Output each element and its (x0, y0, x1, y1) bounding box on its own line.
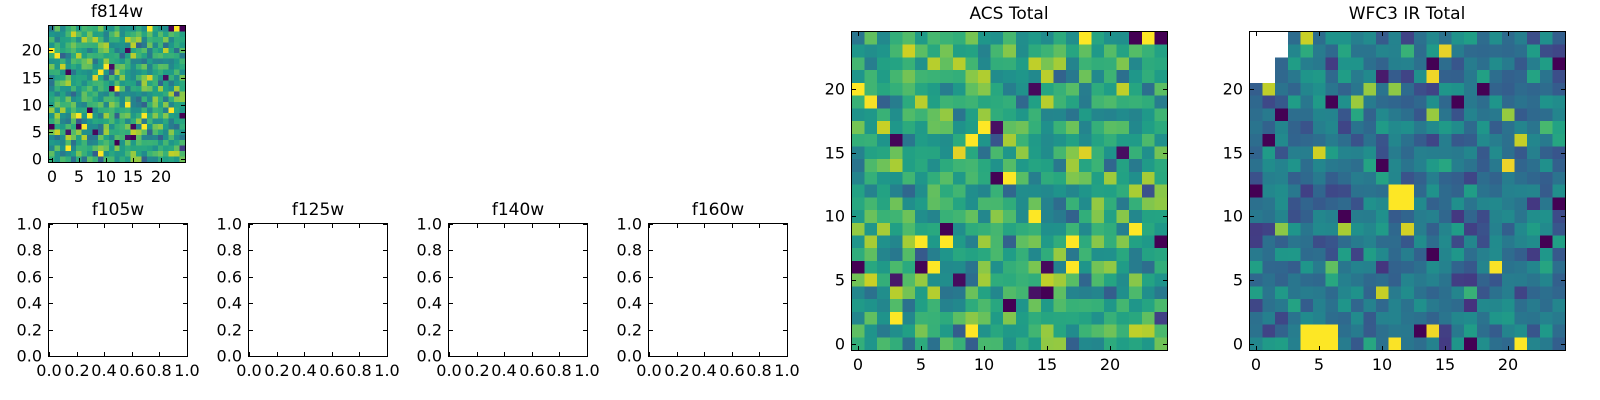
acs-total-panel-xticklabel-3: 15 (1037, 355, 1057, 374)
f814w-panel-xtick-3 (133, 158, 134, 162)
wfc3-ir-total-panel-yticklabel-1: 5 (1163, 271, 1243, 290)
acs-total-panel-ytick-0 (852, 344, 856, 345)
f814w-panel-xticklabel-4: 20 (151, 167, 171, 186)
f140w-panel-ytick-3 (449, 277, 453, 278)
f160w-panel-ytick-5 (649, 224, 653, 225)
acs-total-panel-xtick-top-0 (858, 32, 859, 36)
wfc3-ir-total-panel-yticklabel-0: 0 (1163, 335, 1243, 354)
wfc3-ir-total-panel-yticklabel-3: 15 (1163, 144, 1243, 163)
f140w-panel-xtick-3 (532, 352, 533, 356)
f160w-panel-ytick-right-0 (783, 356, 787, 357)
f160w-panel-ytick-right-1 (783, 330, 787, 331)
f814w-panel-ytick-right-3 (181, 78, 185, 79)
f125w-panel-ytick-4 (249, 250, 253, 251)
f125w-panel-xtick-top-2 (304, 224, 305, 228)
f160w-panel-xtick-top-4 (759, 224, 760, 228)
f160w-panel-yticklabel-5: 1.0 (562, 215, 642, 234)
f105w-panel-xticklabel-3: 0.6 (119, 361, 144, 380)
matplotlib-figure: f814w0510152005101520f105w0.00.20.40.60.… (0, 0, 1600, 400)
f140w-panel-xtick-1 (477, 352, 478, 356)
f814w-panel-xticklabel-3: 15 (123, 167, 143, 186)
f160w-panel-xtick-3 (732, 352, 733, 356)
f140w-panel-yticklabel-4: 0.8 (362, 241, 442, 260)
f814w-panel-xtick-top-2 (106, 26, 107, 30)
f160w-panel-xticklabel-3: 0.6 (719, 361, 744, 380)
f160w-panel-ytick-2 (649, 303, 653, 304)
acs-total-panel-plot-area (851, 31, 1168, 351)
acs-total-panel-xtick-top-4 (1110, 32, 1111, 36)
f140w-panel-yticklabel-2: 0.4 (362, 294, 442, 313)
f814w-panel-title: f814w (0, 2, 267, 22)
f105w-panel-xtick-4 (159, 352, 160, 356)
acs-total-panel-yticklabel-0: 0 (765, 335, 845, 354)
acs-total-panel-ytick-1 (852, 280, 856, 281)
acs-total-panel-xtick-3 (1047, 346, 1048, 350)
f125w-panel-yticklabel-2: 0.4 (162, 294, 242, 313)
f814w-panel-ytick-2 (49, 105, 53, 106)
f814w-panel-xticklabel-1: 5 (74, 167, 84, 186)
f140w-panel-xtick-top-4 (559, 224, 560, 228)
f140w-panel-yticklabel-1: 0.2 (362, 321, 442, 340)
wfc3-ir-total-panel-xtick-0 (1256, 346, 1257, 350)
f160w-panel-yticklabel-2: 0.4 (562, 294, 642, 313)
acs-total-panel-ytick-2 (852, 216, 856, 217)
f105w-panel-yticklabel-3: 0.6 (0, 268, 42, 287)
f140w-panel-yticklabel-5: 1.0 (362, 215, 442, 234)
f125w-panel-yticklabel-5: 1.0 (162, 215, 242, 234)
wfc3-ir-total-panel-plot-area (1249, 31, 1566, 351)
f105w-panel-ytick-3 (49, 277, 53, 278)
wfc3-ir-total-panel-xtick-top-0 (1256, 32, 1257, 36)
f814w-panel-xtick-4 (161, 158, 162, 162)
wfc3-ir-total-panel-ytick-right-2 (1561, 216, 1565, 217)
f814w-panel-xtick-top-3 (133, 26, 134, 30)
f814w-panel-ytick-right-2 (181, 105, 185, 106)
f105w-panel-xtick-top-2 (104, 224, 105, 228)
f814w-panel-ytick-4 (49, 50, 53, 51)
acs-total-panel-yticklabel-3: 15 (765, 144, 845, 163)
f160w-panel-xtick-top-1 (677, 224, 678, 228)
f125w-panel-xtick-1 (277, 352, 278, 356)
f140w-panel-xtick-top-2 (504, 224, 505, 228)
f160w-panel-ytick-4 (649, 250, 653, 251)
acs-total-panel-xticklabel-0: 0 (853, 355, 863, 374)
f160w-panel-xtick-2 (704, 352, 705, 356)
f814w-panel-ytick-1 (49, 132, 53, 133)
f814w-panel-ytick-right-0 (181, 159, 185, 160)
f105w-panel-xtick-2 (104, 352, 105, 356)
wfc3-ir-total-panel-yticklabel-4: 20 (1163, 80, 1243, 99)
f105w-panel-yticklabel-2: 0.4 (0, 294, 42, 313)
wfc3-ir-total-panel-yticklabel-2: 10 (1163, 207, 1243, 226)
f105w-panel-xtick-3 (132, 352, 133, 356)
wfc3-ir-total-panel-xticklabel-4: 20 (1498, 355, 1518, 374)
f140w-panel-yticklabel-3: 0.6 (362, 268, 442, 287)
wfc3-ir-total-panel-ytick-0 (1250, 344, 1254, 345)
f814w-panel-plot-area (48, 25, 186, 163)
f140w-panel-xtick-4 (559, 352, 560, 356)
wfc3-ir-total-panel-xticklabel-2: 10 (1372, 355, 1392, 374)
f814w-panel-xticklabel-0: 0 (47, 167, 57, 186)
f814w-panel-ytick-right-1 (181, 132, 185, 133)
f125w-panel-ytick-1 (249, 330, 253, 331)
f105w-panel-ytick-1 (49, 330, 53, 331)
f140w-panel-yticklabel-0: 0.0 (362, 347, 442, 366)
f125w-panel-yticklabel-4: 0.8 (162, 241, 242, 260)
f814w-panel-xtick-top-0 (52, 26, 53, 30)
wfc3-ir-total-panel-title: WFC3 IR Total (1257, 4, 1557, 24)
f160w-panel-xticklabel-1: 0.2 (664, 361, 689, 380)
wfc3-ir-total-panel-ytick-right-0 (1561, 344, 1565, 345)
acs-total-panel-xtick-2 (984, 346, 985, 350)
f125w-panel-ytick-3 (249, 277, 253, 278)
f814w-panel-yticklabel-4: 20 (0, 41, 42, 60)
f160w-panel-xtick-top-3 (732, 224, 733, 228)
f125w-panel-xticklabel-1: 0.2 (264, 361, 289, 380)
wfc3-ir-total-panel-xtick-top-2 (1382, 32, 1383, 36)
acs-total-panel-xtick-top-2 (984, 32, 985, 36)
f814w-panel-xtick-2 (106, 158, 107, 162)
f125w-panel-xtick-top-1 (277, 224, 278, 228)
f105w-panel-xtick-top-4 (159, 224, 160, 228)
wfc3-ir-total-panel-xtick-3 (1445, 346, 1446, 350)
acs-total-panel-yticklabel-4: 20 (765, 80, 845, 99)
f105w-panel-ytick-2 (49, 303, 53, 304)
acs-total-panel-heatmap-image (852, 32, 1167, 350)
f160w-panel-xtick-top-2 (704, 224, 705, 228)
acs-total-panel-xtick-0 (858, 346, 859, 350)
f125w-panel-yticklabel-1: 0.2 (162, 321, 242, 340)
f105w-panel-xtick-top-3 (132, 224, 133, 228)
wfc3-ir-total-panel-ytick-3 (1250, 153, 1254, 154)
f105w-panel-xticklabel-2: 0.4 (91, 361, 116, 380)
f125w-panel-xtick-3 (332, 352, 333, 356)
acs-total-panel-ytick-3 (852, 153, 856, 154)
f105w-panel-ytick-5 (49, 224, 53, 225)
wfc3-ir-total-panel-heatmap-image (1250, 32, 1565, 350)
acs-total-panel-xticklabel-4: 20 (1100, 355, 1120, 374)
acs-total-panel-yticklabel-2: 10 (765, 207, 845, 226)
f105w-panel-ytick-4 (49, 250, 53, 251)
f160w-panel-yticklabel-0: 0.0 (562, 347, 642, 366)
f814w-panel-ytick-3 (49, 78, 53, 79)
acs-total-panel-xtick-4 (1110, 346, 1111, 350)
f814w-panel-xtick-top-4 (161, 26, 162, 30)
wfc3-ir-total-panel-ytick-right-3 (1561, 153, 1565, 154)
f160w-panel-ytick-right-2 (783, 303, 787, 304)
f160w-panel-ytick-3 (649, 277, 653, 278)
wfc3-ir-total-panel-xtick-4 (1508, 346, 1509, 350)
f140w-panel-xticklabel-1: 0.2 (464, 361, 489, 380)
f140w-panel-xtick-2 (504, 352, 505, 356)
wfc3-ir-total-panel-xtick-1 (1319, 346, 1320, 350)
f125w-panel-yticklabel-0: 0.0 (162, 347, 242, 366)
f160w-panel-xticklabel-4: 0.8 (746, 361, 771, 380)
acs-total-panel-xticklabel-1: 5 (916, 355, 926, 374)
f105w-panel-xticklabel-1: 0.2 (64, 361, 89, 380)
wfc3-ir-total-panel-xtick-top-4 (1508, 32, 1509, 36)
f125w-panel-ytick-0 (249, 356, 253, 357)
f160w-panel-yticklabel-3: 0.6 (562, 268, 642, 287)
wfc3-ir-total-panel-xtick-2 (1382, 346, 1383, 350)
f160w-panel-ytick-right-4 (783, 250, 787, 251)
acs-total-panel-title: ACS Total (859, 4, 1159, 24)
f105w-panel-xtick-top-1 (77, 224, 78, 228)
f814w-panel-ytick-0 (49, 159, 53, 160)
f160w-panel-xtick-4 (759, 352, 760, 356)
f105w-panel-ytick-0 (49, 356, 53, 357)
f814w-panel-ytick-right-4 (181, 50, 185, 51)
f160w-panel-xticklabel-2: 0.4 (691, 361, 716, 380)
f125w-panel-xtick-top-4 (359, 224, 360, 228)
acs-total-panel-yticklabel-1: 5 (765, 271, 845, 290)
f814w-panel-xtick-1 (79, 158, 80, 162)
f160w-panel-yticklabel-1: 0.2 (562, 321, 642, 340)
wfc3-ir-total-panel-xticklabel-0: 0 (1251, 355, 1261, 374)
f814w-panel-yticklabel-0: 0 (0, 150, 42, 169)
f160w-panel-xtick-1 (677, 352, 678, 356)
f125w-panel-xtick-top-3 (332, 224, 333, 228)
f105w-panel-yticklabel-5: 1.0 (0, 215, 42, 234)
f814w-panel-yticklabel-2: 10 (0, 96, 42, 115)
f160w-panel-xticklabel-5: 1.0 (774, 361, 799, 380)
wfc3-ir-total-panel-ytick-right-4 (1561, 89, 1565, 90)
f140w-panel-xtick-top-1 (477, 224, 478, 228)
wfc3-ir-total-panel-ytick-1 (1250, 280, 1254, 281)
f125w-panel-xtick-2 (304, 352, 305, 356)
wfc3-ir-total-panel-ytick-2 (1250, 216, 1254, 217)
acs-total-panel-ytick-4 (852, 89, 856, 90)
f814w-panel-yticklabel-3: 15 (0, 69, 42, 88)
f814w-panel-xtick-top-1 (79, 26, 80, 30)
f140w-panel-xtick-top-3 (532, 224, 533, 228)
f105w-panel-yticklabel-1: 0.2 (0, 321, 42, 340)
f140w-panel-ytick-0 (449, 356, 453, 357)
acs-total-panel-xticklabel-2: 10 (974, 355, 994, 374)
f105w-panel-xtick-1 (77, 352, 78, 356)
wfc3-ir-total-panel-ytick-right-1 (1561, 280, 1565, 281)
f140w-panel-xticklabel-2: 0.4 (491, 361, 516, 380)
wfc3-ir-total-panel-ytick-4 (1250, 89, 1254, 90)
f814w-panel-heatmap-image (49, 26, 185, 162)
f160w-panel-ytick-0 (649, 356, 653, 357)
f125w-panel-ytick-2 (249, 303, 253, 304)
f125w-panel-ytick-5 (249, 224, 253, 225)
wfc3-ir-total-panel-xtick-top-3 (1445, 32, 1446, 36)
f140w-panel-ytick-2 (449, 303, 453, 304)
f140w-panel-ytick-5 (449, 224, 453, 225)
acs-total-panel-xtick-1 (921, 346, 922, 350)
f125w-panel-xticklabel-3: 0.6 (319, 361, 344, 380)
f140w-panel-xticklabel-3: 0.6 (519, 361, 544, 380)
f105w-panel-yticklabel-0: 0.0 (0, 347, 42, 366)
f125w-panel-xtick-4 (359, 352, 360, 356)
f125w-panel-xticklabel-2: 0.4 (291, 361, 316, 380)
f814w-panel-xticklabel-2: 10 (96, 167, 116, 186)
wfc3-ir-total-panel-xtick-top-1 (1319, 32, 1320, 36)
f105w-panel-yticklabel-4: 0.8 (0, 241, 42, 260)
f140w-panel-ytick-1 (449, 330, 453, 331)
f160w-panel-ytick-1 (649, 330, 653, 331)
f140w-panel-ytick-4 (449, 250, 453, 251)
f160w-panel-yticklabel-4: 0.8 (562, 241, 642, 260)
acs-total-panel-xtick-top-1 (921, 32, 922, 36)
acs-total-panel-xtick-top-3 (1047, 32, 1048, 36)
wfc3-ir-total-panel-xticklabel-3: 15 (1435, 355, 1455, 374)
wfc3-ir-total-panel-xticklabel-1: 5 (1314, 355, 1324, 374)
f125w-panel-yticklabel-3: 0.6 (162, 268, 242, 287)
f814w-panel-yticklabel-1: 5 (0, 123, 42, 142)
